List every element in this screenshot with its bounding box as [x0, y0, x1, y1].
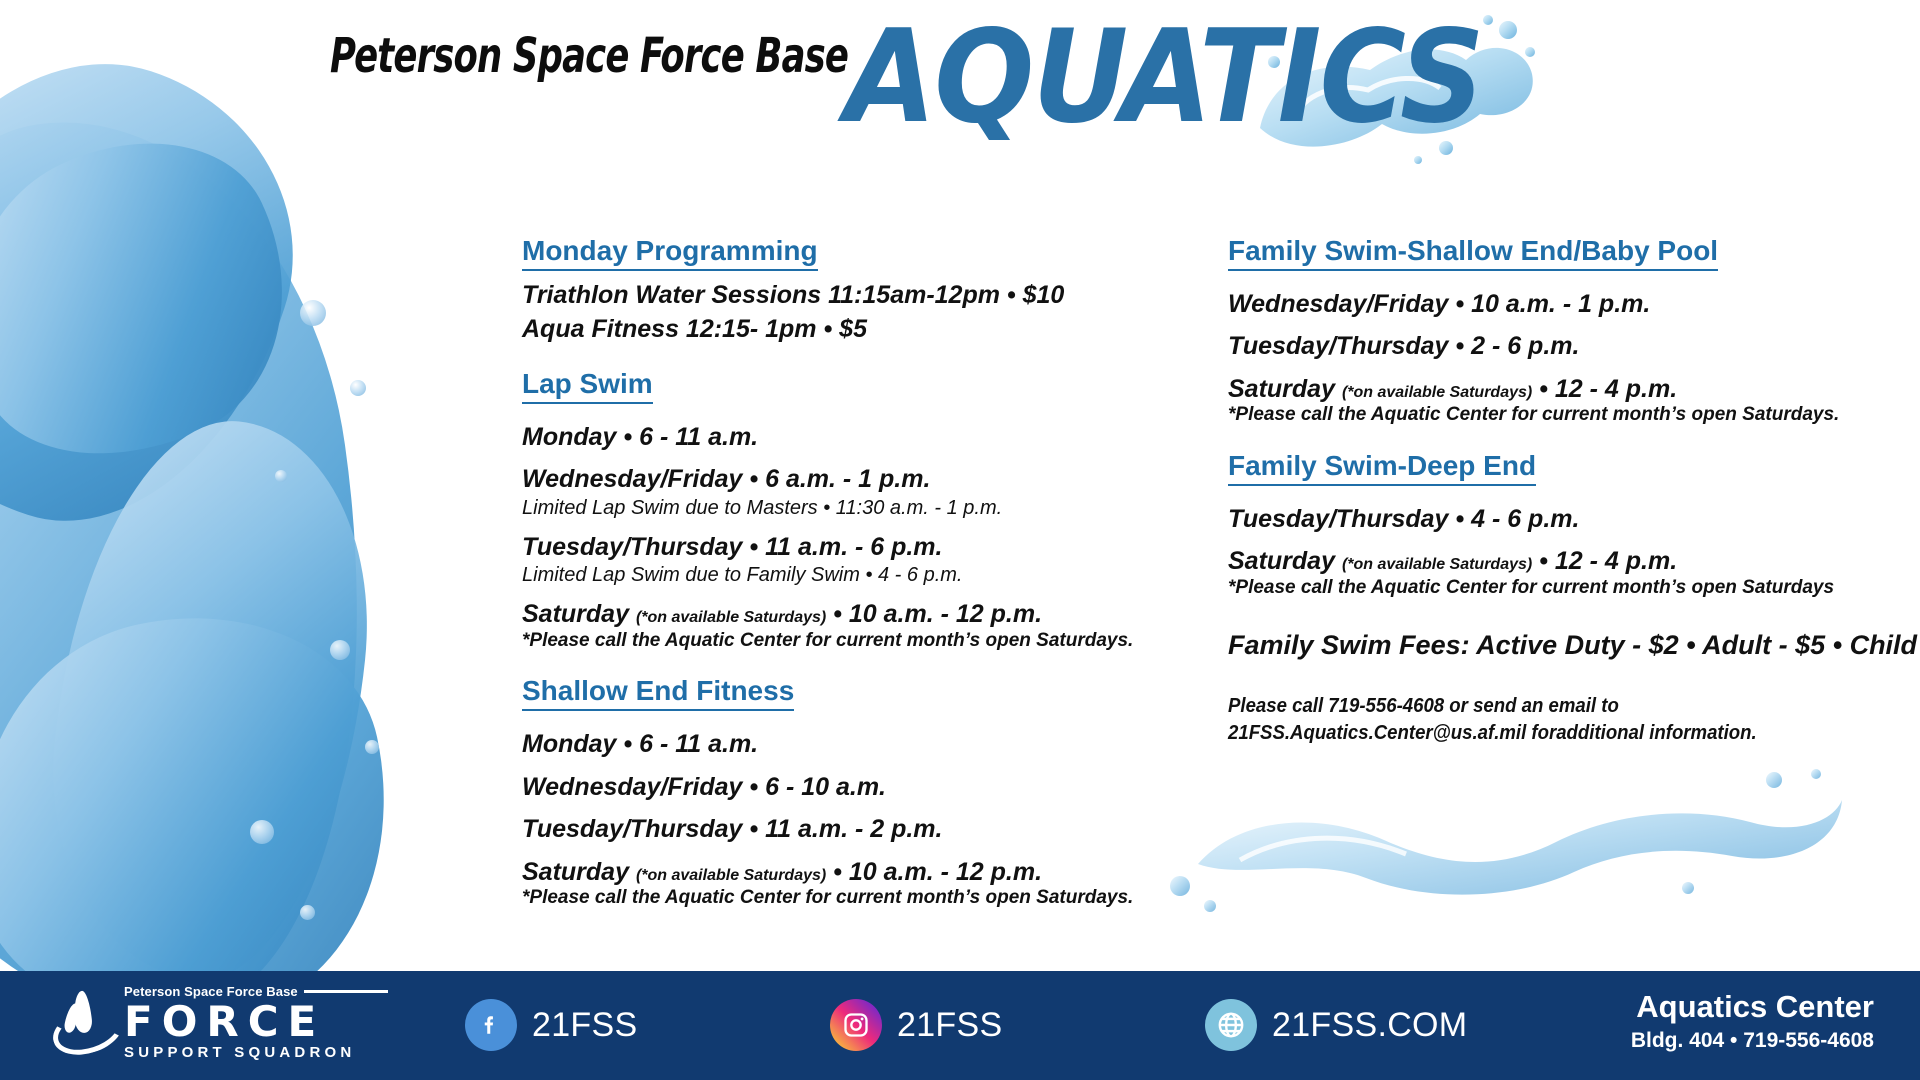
entry-main-line: Monday • 6 - 11 a.m.	[522, 730, 1162, 760]
facility-name: Aquatics Center	[1631, 989, 1874, 1025]
schedule-entry: Monday • 6 - 11 a.m.	[522, 730, 1162, 760]
entry-day-time: Aqua Fitness 12:15- 1pm • $5	[522, 315, 867, 343]
instagram-link[interactable]: 21FSS	[830, 999, 1002, 1051]
schedule-section: Shallow End FitnessMonday • 6 - 11 a.m.W…	[522, 676, 1162, 910]
entry-main-line: Tuesday/Thursday • 11 a.m. - 6 p.m.	[522, 533, 1162, 563]
entry-main-line: Tuesday/Thursday • 4 - 6 p.m.	[1228, 505, 1888, 535]
entry-day-time: Saturday	[522, 858, 636, 886]
page-title: AQUATICS	[845, 14, 1483, 142]
schedule-entry: Saturday (*on available Saturdays) • 10 …	[522, 600, 1162, 652]
schedule-section: Family Swim-Shallow End/Baby PoolWednesd…	[1228, 236, 1888, 427]
schedule-entry: Saturday (*on available Saturdays) • 10 …	[522, 858, 1162, 910]
entry-main-line: Wednesday/Friday • 10 a.m. - 1 p.m.	[1228, 290, 1888, 320]
schedule-entry: Wednesday/Friday • 6 - 10 a.m.	[522, 773, 1162, 803]
globe-icon	[1205, 999, 1257, 1051]
entry-day-time: Tuesday/Thursday • 11 a.m. - 2 p.m.	[522, 815, 942, 843]
facebook-handle: 21FSS	[532, 1006, 637, 1045]
entry-main-line: Tuesday/Thursday • 11 a.m. - 2 p.m.	[522, 815, 1162, 845]
entry-main-line: Saturday (*on available Saturdays) • 10 …	[522, 858, 1162, 888]
entry-day-time: Monday • 6 - 11 a.m.	[522, 423, 758, 451]
website-url: 21FSS.COM	[1272, 1006, 1467, 1045]
flame-torch-icon	[52, 987, 114, 1059]
entry-day-time: Tuesday/Thursday • 4 - 6 p.m.	[1228, 505, 1579, 533]
logo-sub-text: SUPPORT SQUADRON	[124, 1045, 388, 1060]
entry-time-range: • 12 - 4 p.m.	[1532, 547, 1677, 575]
instagram-handle: 21FSS	[897, 1006, 1002, 1045]
logo-rule	[304, 990, 388, 993]
entry-day-time: Tuesday/Thursday • 11 a.m. - 6 p.m.	[522, 533, 942, 561]
schedule-entry: Triathlon Water Sessions 11:15am-12pm • …	[522, 279, 1162, 311]
family-swim-fees: Family Swim Fees: Active Duty - $2 • Adu…	[1228, 630, 1888, 661]
contact-info: Please call 719-556-4608 or send an emai…	[1228, 693, 1842, 747]
schedule-entry: Aqua Fitness 12:15- 1pm • $5	[522, 313, 1162, 345]
section-heading: Family Swim-Deep End	[1228, 451, 1536, 486]
fss-logo: Peterson Space Force Base FORCE SUPPORT …	[52, 985, 388, 1060]
schedule-entry: Tuesday/Thursday • 11 a.m. - 2 p.m.	[522, 815, 1162, 845]
section-heading: Monday Programming	[522, 236, 818, 271]
facility-details: Bldg. 404 • 719-556-4608	[1631, 1029, 1874, 1053]
schedule-entry: Wednesday/Friday • 6 a.m. - 1 p.m.Limite…	[522, 465, 1162, 520]
footer-contact-block: Aquatics Center Bldg. 404 • 719-556-4608	[1631, 989, 1874, 1053]
schedule-section: Family Swim-Deep EndTuesday/Thursday • 4…	[1228, 451, 1888, 600]
entry-availability-note: (*on available Saturdays)	[636, 867, 826, 884]
entry-main-line: Wednesday/Friday • 6 a.m. - 1 p.m.	[522, 465, 1162, 495]
schedule-entry: Tuesday/Thursday • 11 a.m. - 6 p.m.Limit…	[522, 533, 1162, 588]
entry-main-line: Tuesday/Thursday • 2 - 6 p.m.	[1228, 332, 1888, 362]
schedule-section: Monday ProgrammingTriathlon Water Sessio…	[522, 236, 1162, 345]
entry-day-time: Wednesday/Friday • 6 a.m. - 1 p.m.	[522, 465, 930, 493]
entry-main-line: Saturday (*on available Saturdays) • 10 …	[522, 600, 1162, 630]
section-heading: Family Swim-Shallow End/Baby Pool	[1228, 236, 1718, 271]
entry-availability-note: (*on available Saturdays)	[1342, 556, 1532, 573]
facebook-icon	[465, 999, 517, 1051]
schedule-column-right: Family Swim-Shallow End/Baby PoolWednesd…	[1228, 236, 1888, 747]
entry-main-line: Wednesday/Friday • 6 - 10 a.m.	[522, 773, 1162, 803]
entry-day-time: Monday • 6 - 11 a.m.	[522, 730, 758, 758]
schedule-section: Lap SwimMonday • 6 - 11 a.m.Wednesday/Fr…	[522, 369, 1162, 653]
contact-line: Please call 719-556-4608 or send an emai…	[1228, 693, 1842, 720]
entry-time-range: • 12 - 4 p.m.	[1532, 375, 1677, 403]
logo-main-text: FORCE	[124, 1001, 388, 1043]
schedule-entry: Monday • 6 - 11 a.m.	[522, 423, 1162, 453]
entry-time-range: • 10 a.m. - 12 p.m.	[826, 858, 1042, 886]
website-link[interactable]: 21FSS.COM	[1205, 999, 1467, 1051]
base-name-title: Peterson Space Force Base	[330, 28, 848, 84]
entry-footnote: *Please call the Aquatic Center for curr…	[522, 630, 1162, 653]
entry-main-line: Monday • 6 - 11 a.m.	[522, 423, 1162, 453]
schedule-column-left: Monday ProgrammingTriathlon Water Sessio…	[522, 236, 1162, 910]
poster-header: Peterson Space Force Base AQUATICS	[0, 0, 1920, 185]
instagram-icon	[830, 999, 882, 1051]
schedule-entry: Saturday (*on available Saturdays) • 12 …	[1228, 375, 1888, 427]
entry-day-time: Triathlon Water Sessions 11:15am-12pm • …	[522, 281, 1064, 309]
entry-day-time: Saturday	[1228, 375, 1342, 403]
entry-day-time: Wednesday/Friday • 10 a.m. - 1 p.m.	[1228, 290, 1650, 318]
water-splash-bottom-artwork	[1170, 760, 1850, 930]
entry-availability-note: (*on available Saturdays)	[1342, 384, 1532, 401]
entry-day-time: Wednesday/Friday • 6 - 10 a.m.	[522, 773, 886, 801]
entry-main-line: Triathlon Water Sessions 11:15am-12pm • …	[522, 279, 1162, 311]
schedule-entry: Wednesday/Friday • 10 a.m. - 1 p.m.	[1228, 290, 1888, 320]
entry-footnote: *Please call the Aquatic Center for curr…	[522, 887, 1162, 910]
entry-footnote: *Please call the Aquatic Center for curr…	[1228, 577, 1888, 600]
entry-main-line: Saturday (*on available Saturdays) • 12 …	[1228, 547, 1888, 577]
footer-bar: Peterson Space Force Base FORCE SUPPORT …	[0, 971, 1920, 1080]
entry-main-line: Saturday (*on available Saturdays) • 12 …	[1228, 375, 1888, 405]
entry-day-time: Saturday	[522, 600, 636, 628]
entry-sub-line: Limited Lap Swim due to Masters • 11:30 …	[522, 496, 1162, 520]
schedule-entry: Tuesday/Thursday • 2 - 6 p.m.	[1228, 332, 1888, 362]
section-heading: Lap Swim	[522, 369, 653, 404]
section-heading: Shallow End Fitness	[522, 676, 794, 711]
entry-time-range: • 10 a.m. - 12 p.m.	[826, 600, 1042, 628]
contact-line: 21FSS.Aquatics.Center@us.af.mil foraddit…	[1228, 720, 1842, 747]
entry-day-time: Tuesday/Thursday • 2 - 6 p.m.	[1228, 332, 1579, 360]
entry-day-time: Saturday	[1228, 547, 1342, 575]
facebook-link[interactable]: 21FSS	[465, 999, 637, 1051]
entry-footnote: *Please call the Aquatic Center for curr…	[1228, 404, 1888, 427]
entry-sub-line: Limited Lap Swim due to Family Swim • 4 …	[522, 563, 1162, 587]
entry-availability-note: (*on available Saturdays)	[636, 609, 826, 626]
entry-main-line: Aqua Fitness 12:15- 1pm • $5	[522, 313, 1162, 345]
schedule-entry: Saturday (*on available Saturdays) • 12 …	[1228, 547, 1888, 599]
schedule-entry: Tuesday/Thursday • 4 - 6 p.m.	[1228, 505, 1888, 535]
